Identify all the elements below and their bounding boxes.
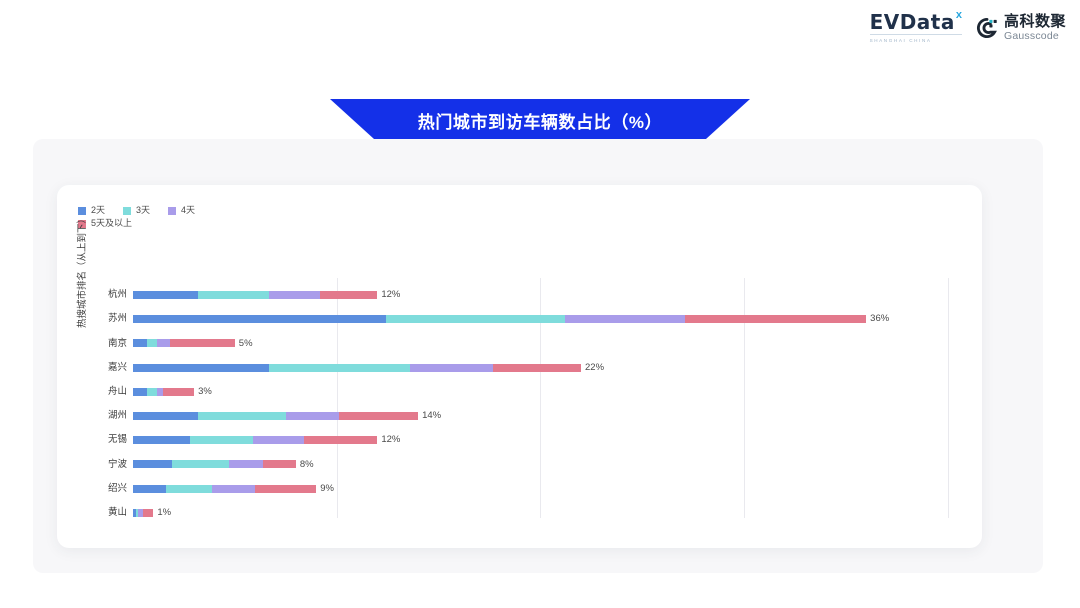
y-axis-tick-label: 无锡 [81, 435, 127, 445]
bar-segment [133, 291, 198, 299]
bar-segment [565, 315, 685, 323]
stacked-bar[interactable] [133, 412, 418, 420]
bar-segment [157, 339, 169, 347]
legend-item[interactable]: 4天 [168, 206, 195, 215]
bar-row[interactable]: 杭州12% [133, 284, 968, 306]
page-title: 热门城市到访车辆数占比（%） [418, 108, 663, 133]
y-axis-tick-label: 舟山 [81, 387, 127, 397]
bar-segment [269, 291, 320, 299]
bar-segment [133, 412, 198, 420]
bar-segment [190, 436, 253, 444]
y-axis-tick-label: 绍兴 [81, 484, 127, 494]
legend-label: 4天 [181, 206, 195, 215]
slide-root: EVData x shanghai china 高科数聚 Gausscode 热… [0, 0, 1080, 608]
bar-segment [166, 485, 213, 493]
bar-value-label: 5% [239, 339, 253, 349]
y-axis-tick-label: 宁波 [81, 460, 127, 470]
chart-region: 热搜城市排名（从上到下） 杭州12%苏州36%南京5%嘉兴22%舟山3%湖州14… [78, 278, 968, 518]
bar-value-label: 12% [381, 435, 400, 445]
y-axis-tick-label: 黄山 [81, 508, 127, 518]
stacked-bar[interactable] [133, 436, 377, 444]
bar-row[interactable]: 苏州36% [133, 308, 968, 330]
bar-segment [147, 339, 157, 347]
bar-segment [163, 388, 195, 396]
legend-label: 2天 [91, 206, 105, 215]
legend-item[interactable]: 5天及以上 [78, 219, 378, 228]
stacked-bar[interactable] [133, 509, 153, 517]
bar-row[interactable]: 绍兴9% [133, 478, 968, 500]
title-banner: 热门城市到访车辆数占比（%） [330, 99, 750, 141]
bar-segment [198, 291, 269, 299]
gausscode-text: 高科数聚 Gausscode [1004, 14, 1066, 42]
stacked-bar[interactable] [133, 460, 296, 468]
bar-segment [685, 315, 866, 323]
bar-segment [212, 485, 255, 493]
chart-legend: 2天3天4天5天及以上 [78, 206, 378, 232]
bar-value-label: 12% [381, 290, 400, 300]
bar-segment [286, 412, 339, 420]
bar-segment [339, 412, 418, 420]
bar-segment [263, 460, 296, 468]
evdata-wordmark: EVData x [870, 12, 962, 32]
bar-segment [229, 460, 264, 468]
bar-segment [304, 436, 377, 444]
bar-segment [320, 291, 377, 299]
legend-label: 5天及以上 [91, 219, 132, 228]
bar-row[interactable]: 宁波8% [133, 453, 968, 475]
y-axis-tick-label: 嘉兴 [81, 363, 127, 373]
bar-segment [198, 412, 286, 420]
bar-row[interactable]: 湖州14% [133, 405, 968, 427]
bar-value-label: 14% [422, 411, 441, 421]
bar-segment [493, 364, 581, 372]
y-axis-tick-label: 苏州 [81, 314, 127, 324]
bar-segment [133, 460, 172, 468]
bar-segment [133, 339, 147, 347]
bar-value-label: 9% [320, 484, 334, 494]
bar-segment [133, 436, 190, 444]
bar-row[interactable]: 黄山1% [133, 502, 968, 524]
bar-segment [172, 460, 229, 468]
stacked-bar[interactable] [133, 291, 377, 299]
legend-label: 3天 [136, 206, 150, 215]
gausscode-name-cn: 高科数聚 [1004, 14, 1066, 29]
y-axis-tick-label: 湖州 [81, 411, 127, 421]
evdata-superscript-icon: x [956, 9, 962, 21]
bar-value-label: 8% [300, 460, 314, 470]
evdata-logo: EVData x shanghai china [870, 12, 962, 43]
legend-item[interactable]: 3天 [123, 206, 150, 215]
bar-value-label: 1% [157, 508, 171, 518]
stacked-bar[interactable] [133, 485, 316, 493]
bar-segment [133, 364, 269, 372]
bar-row[interactable]: 南京5% [133, 332, 968, 354]
y-axis-tick-label: 南京 [81, 339, 127, 349]
bar-segment [133, 485, 166, 493]
evdata-word: EVData [870, 12, 955, 32]
evdata-divider [870, 34, 962, 35]
bar-value-label: 22% [585, 363, 604, 373]
bar-value-label: 3% [198, 387, 212, 397]
y-axis-tick-label: 杭州 [81, 290, 127, 300]
bar-value-label: 36% [870, 314, 889, 324]
gausscode-name-en: Gausscode [1004, 31, 1066, 42]
stacked-bar[interactable] [133, 315, 866, 323]
bar-rows: 杭州12%苏州36%南京5%嘉兴22%舟山3%湖州14%无锡12%宁波8%绍兴9… [133, 278, 968, 518]
legend-swatch-icon [168, 207, 176, 215]
bar-segment [147, 388, 157, 396]
gausscode-mark-icon [976, 17, 998, 39]
bar-segment [386, 315, 565, 323]
bar-segment [253, 436, 304, 444]
bar-segment [410, 364, 494, 372]
bar-row[interactable]: 无锡12% [133, 429, 968, 451]
bar-segment [133, 315, 386, 323]
bar-segment [143, 509, 153, 517]
stacked-bar[interactable] [133, 339, 235, 347]
evdata-tagline: shanghai china [870, 38, 932, 43]
brand-header: EVData x shanghai china 高科数聚 Gausscode [870, 12, 1066, 43]
bar-segment [255, 485, 316, 493]
plot-area: 杭州12%苏州36%南京5%嘉兴22%舟山3%湖州14%无锡12%宁波8%绍兴9… [133, 278, 968, 518]
bar-row[interactable]: 嘉兴22% [133, 357, 968, 379]
legend-swatch-icon [123, 207, 131, 215]
bar-row[interactable]: 舟山3% [133, 381, 968, 403]
bar-segment [170, 339, 235, 347]
stacked-bar[interactable] [133, 364, 581, 372]
stacked-bar[interactable] [133, 388, 194, 396]
bar-segment [133, 388, 147, 396]
bar-segment [269, 364, 410, 372]
gausscode-logo: 高科数聚 Gausscode [976, 14, 1066, 42]
